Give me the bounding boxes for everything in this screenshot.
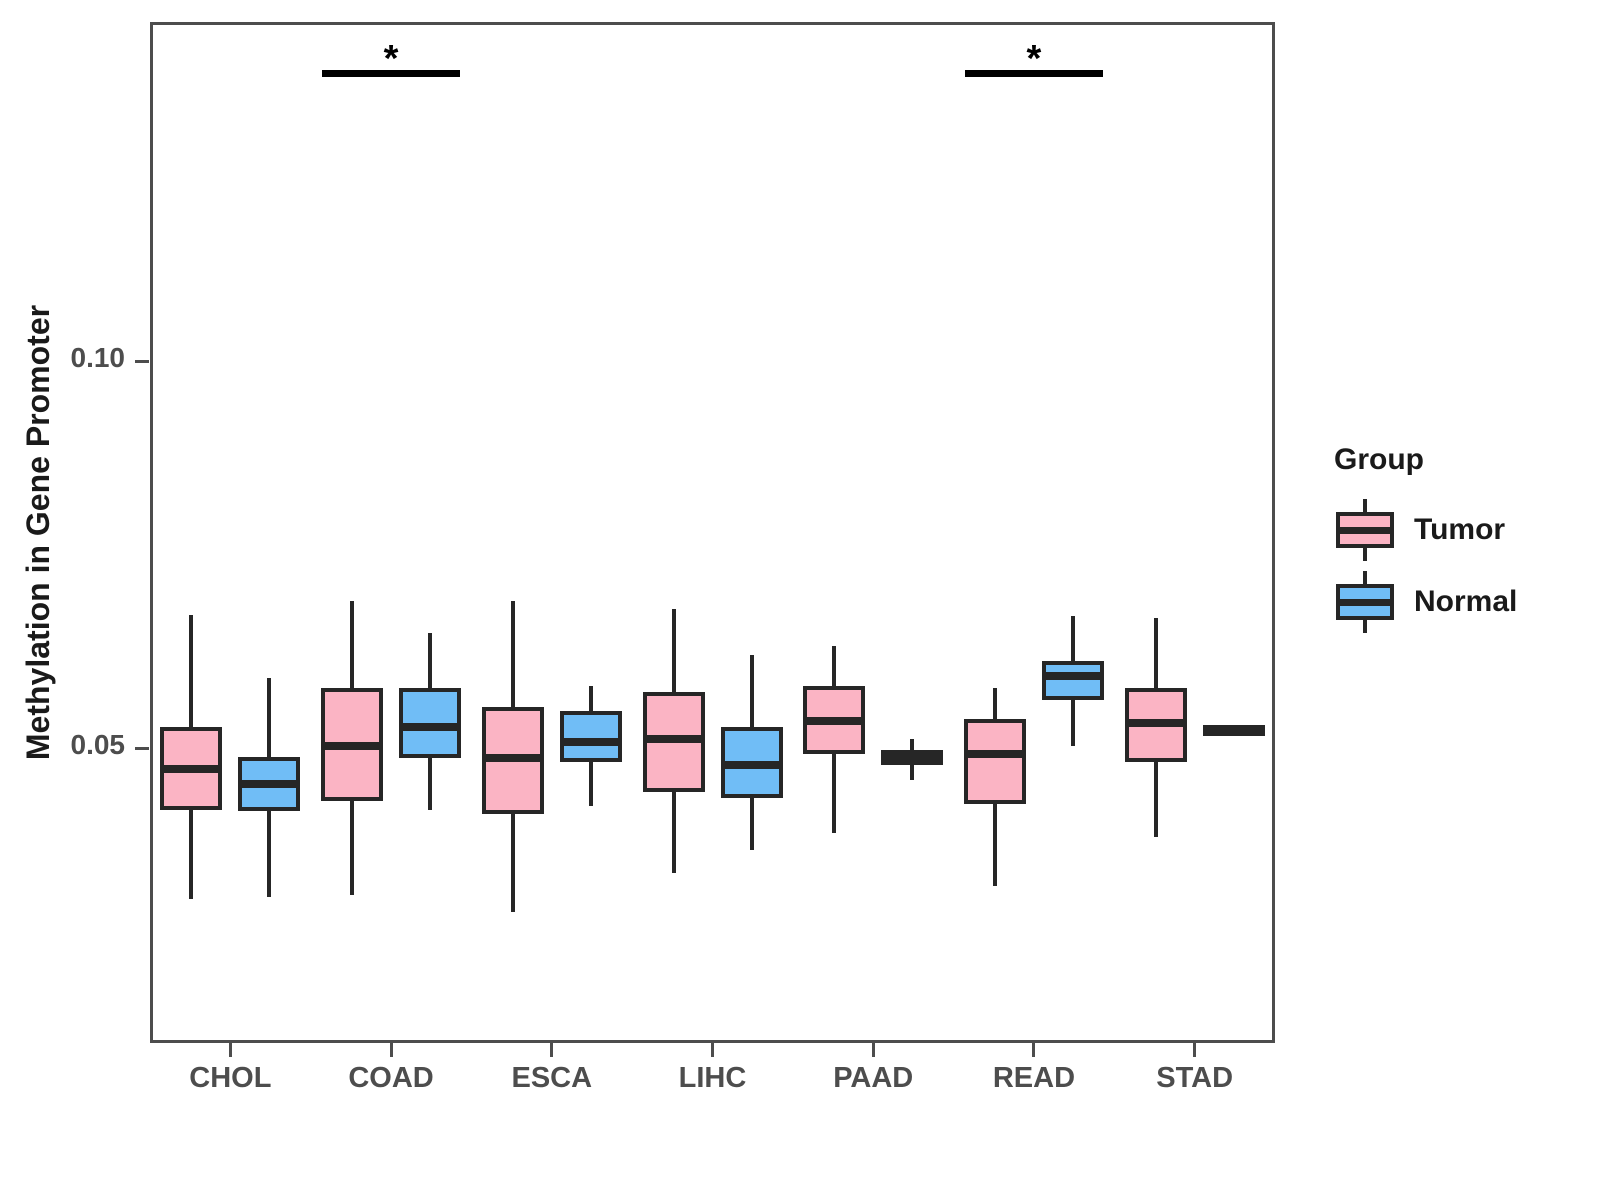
x-tick-mark: [550, 1043, 553, 1057]
x-tick-label-esca: ESCA: [511, 1062, 592, 1095]
box-esca-normal-median: [560, 738, 622, 746]
box-chol-tumor-median: [160, 765, 222, 773]
significance-star-coad: *: [384, 40, 399, 78]
box-coad-normal-median: [399, 723, 461, 731]
box-read-normal-box[interactable]: [1042, 661, 1104, 700]
box-lihc-tumor-median: [643, 735, 705, 743]
significance-star-read: *: [1027, 40, 1042, 78]
x-tick-mark: [872, 1043, 875, 1057]
legend-label-normal: Normal: [1414, 585, 1517, 619]
x-tick-label-lihc: LIHC: [679, 1062, 747, 1095]
legend-item-normal[interactable]: Normal: [1334, 571, 1594, 633]
x-tick-mark: [1032, 1043, 1035, 1057]
plot-area: [150, 22, 1275, 1043]
x-tick-label-stad: STAD: [1156, 1062, 1233, 1095]
x-tick-mark: [229, 1043, 232, 1057]
y-tick-mark: [135, 747, 149, 750]
box-lihc-normal-median: [721, 761, 783, 769]
box-read-tumor-median: [964, 750, 1026, 758]
box-esca-normal-box[interactable]: [560, 711, 622, 762]
box-paad-tumor-median: [803, 717, 865, 725]
box-chol-normal-median: [238, 780, 300, 788]
x-tick-label-coad: COAD: [348, 1062, 433, 1095]
box-stad-tumor-median: [1125, 719, 1187, 727]
box-read-normal-median: [1042, 672, 1104, 680]
box-esca-tumor-median: [482, 754, 544, 762]
legend-key-tumor-icon: [1334, 499, 1396, 561]
legend: Group Tumor Normal: [1334, 443, 1594, 643]
legend-item-tumor[interactable]: Tumor: [1334, 499, 1594, 561]
y-tick-mark: [135, 360, 149, 363]
x-tick-mark: [1193, 1043, 1196, 1057]
y-tick-label: 0.05: [0, 729, 125, 761]
box-paad-normal-median: [881, 754, 943, 762]
legend-title: Group: [1334, 443, 1594, 477]
legend-key-normal-icon: [1334, 571, 1396, 633]
y-tick-label: 0.10: [0, 342, 125, 374]
x-tick-label-read: READ: [993, 1062, 1075, 1095]
box-coad-tumor-median: [321, 742, 383, 750]
chart-root: Methylation in Gene Promoter 0.050.10 CH…: [0, 0, 1600, 1200]
x-tick-label-chol: CHOL: [189, 1062, 271, 1095]
x-tick-label-paad: PAAD: [833, 1062, 913, 1095]
box-stad-normal-median: [1203, 725, 1265, 733]
x-tick-mark: [390, 1043, 393, 1057]
x-tick-mark: [711, 1043, 714, 1057]
y-axis-title: Methylation in Gene Promoter: [14, 22, 62, 1043]
legend-label-tumor: Tumor: [1414, 513, 1505, 547]
box-read-tumor-box[interactable]: [964, 719, 1026, 804]
